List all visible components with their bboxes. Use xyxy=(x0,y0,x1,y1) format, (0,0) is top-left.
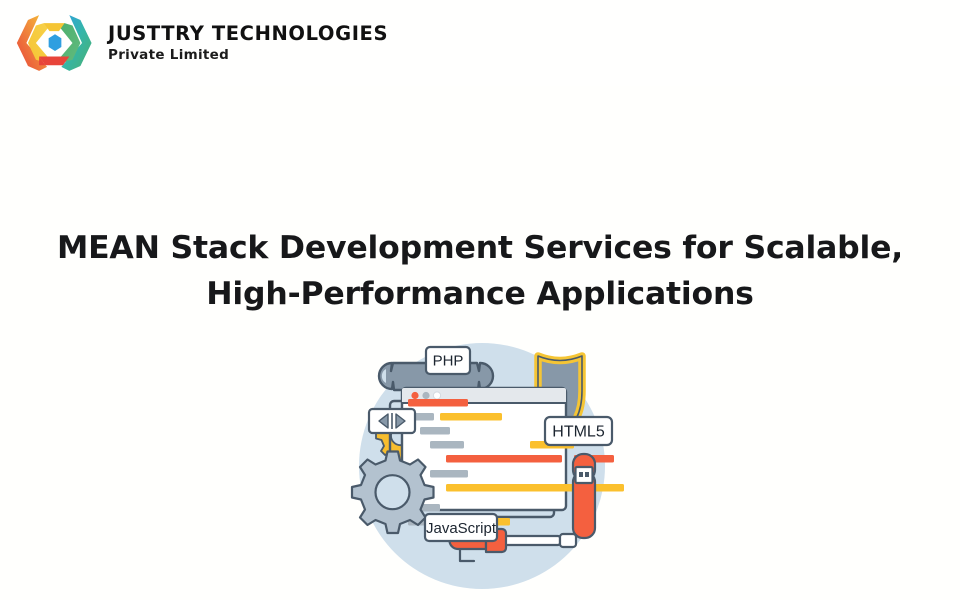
window-dot-1 xyxy=(411,392,418,399)
code-line xyxy=(408,399,468,407)
page-title: MEAN Stack Development Services for Scal… xyxy=(0,226,960,318)
web-development-tools-illustration: PHP HTML5 JavaScript xyxy=(330,329,630,591)
code-arrows-badge-icon[interactable] xyxy=(369,409,415,433)
logo-center-hexagon xyxy=(49,34,62,51)
code-line xyxy=(446,455,562,463)
label-html5-text: HTML5 xyxy=(552,424,605,441)
label-html5: HTML5 xyxy=(545,417,612,445)
usb-drive-icon xyxy=(573,454,595,538)
logo-top-wedge xyxy=(44,23,65,31)
brand-name: JUSTTRY TECHNOLOGIES xyxy=(108,24,388,44)
window-dot-2 xyxy=(422,392,429,399)
code-line xyxy=(430,470,468,478)
code-line xyxy=(420,427,450,435)
label-php-text: PHP xyxy=(433,353,464,370)
brand-text-block: JUSTTRY TECHNOLOGIES Private Limited xyxy=(108,24,388,62)
label-javascript: JavaScript xyxy=(425,514,497,541)
hexagon-multicolor-logo-icon xyxy=(14,12,96,74)
brand-logo-link[interactable]: JUSTTRY TECHNOLOGIES Private Limited xyxy=(14,12,388,74)
label-javascript-text: JavaScript xyxy=(426,520,497,537)
hero-illustration: PHP HTML5 JavaScript xyxy=(330,329,630,591)
gear-large-icon xyxy=(352,452,434,534)
code-line xyxy=(446,484,624,492)
site-header: JUSTTRY TECHNOLOGIES Private Limited xyxy=(0,0,960,86)
page-main: MEAN Stack Development Services for Scal… xyxy=(0,86,960,600)
label-php: PHP xyxy=(426,347,470,374)
code-line xyxy=(430,441,464,449)
window-dot-3 xyxy=(433,392,440,399)
code-line xyxy=(440,413,502,421)
brand-subtitle: Private Limited xyxy=(108,48,388,62)
